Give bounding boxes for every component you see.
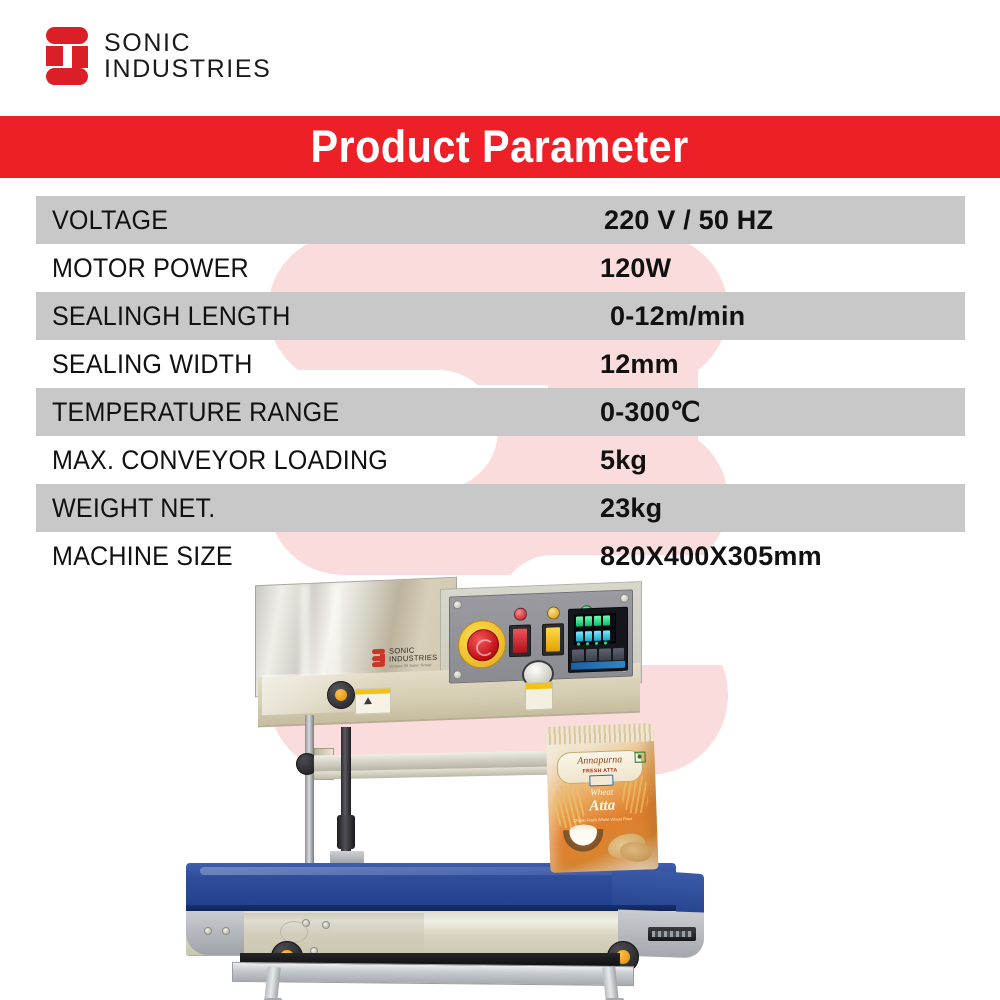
conveyor-frame-left-end [186, 911, 244, 955]
vegetarian-mark-icon [634, 751, 645, 762]
warning-sticker-right [525, 681, 553, 710]
spec-value: 0-300℃ [600, 397, 701, 428]
spec-value: 120W [600, 253, 671, 284]
page-title: Product Parameter [311, 121, 689, 173]
packet-brand-name: Annapurna [558, 754, 642, 768]
temperature-controller[interactable] [568, 607, 628, 673]
machine-leg-left [264, 966, 280, 1000]
frame-shadow [244, 913, 424, 953]
table-row: VOLTAGE 220 V / 50 HZ [0, 196, 1000, 244]
spec-value: 5kg [600, 445, 647, 476]
spec-value: 23kg [600, 493, 662, 524]
page-header: SONIC INDUSTRIES [0, 0, 1000, 116]
spec-label: VOLTAGE [52, 205, 562, 236]
table-row: MOTOR POWER 120W [0, 244, 1000, 292]
packet-product-line-2: Atta [548, 796, 657, 817]
warning-sticker-left [355, 687, 391, 714]
controller-brand-strip [571, 661, 625, 670]
warning-triangle-icon [364, 697, 372, 704]
spec-value: 820X400X305mm [600, 541, 822, 572]
table-row: WEIGHT NET. 23kg [0, 484, 1000, 532]
brand-name: SONIC INDUSTRIES [104, 30, 271, 83]
pv-display [574, 613, 616, 630]
spec-label: SEALING WIDTH [52, 349, 562, 380]
head-adjustment-knob[interactable] [327, 681, 355, 709]
power-led-icon [514, 608, 527, 621]
panel-screw [620, 594, 629, 603]
steel-highlight [300, 585, 310, 685]
emergency-stop-cap [467, 629, 499, 662]
control-panel [449, 589, 633, 683]
frame-bolt [204, 927, 212, 935]
product-packet: Annapurna FRESH ATTA Wheat Atta Chakki F… [545, 723, 658, 873]
machine-photo: SONIC INDUSTRIES Venture Of Sonic Group [0, 575, 1000, 1000]
guide-rod-coupler [337, 815, 355, 849]
brand-logo: SONIC INDUSTRIES [46, 27, 271, 85]
machine-s-logo-icon [372, 649, 385, 667]
frame-bolt [222, 927, 230, 935]
sonic-s-logo-icon [46, 27, 88, 85]
section-banner: Product Parameter [0, 116, 1000, 178]
spec-value: 220 V / 50 HZ [604, 205, 773, 236]
panel-screw [453, 670, 462, 679]
spec-label: WEIGHT NET. [52, 493, 562, 524]
table-row: SEALINGH LENGTH 0-12m/min [0, 292, 1000, 340]
emergency-stop-button[interactable] [458, 619, 506, 669]
table-row: MACHINE SIZE 820X400X305mm [0, 532, 1000, 580]
brand-line-2: INDUSTRIES [104, 56, 271, 83]
steel-highlight [330, 585, 340, 685]
heater-led-icon [547, 606, 560, 619]
spec-label: SEALINGH LENGTH [52, 301, 562, 332]
spec-label: MOTOR POWER [52, 253, 562, 284]
certification-mark-icon [589, 775, 613, 787]
brand-line-1: SONIC [104, 30, 271, 57]
spec-label: TEMPERATURE RANGE [52, 397, 562, 428]
spec-label: MAX. CONVEYOR LOADING [52, 445, 562, 476]
table-row: SEALING WIDTH 12mm [0, 340, 1000, 388]
spec-label: MACHINE SIZE [52, 541, 562, 572]
frame-access-ring [280, 921, 308, 943]
spec-table: VOLTAGE 220 V / 50 HZ MOTOR POWER 120W S… [0, 196, 1000, 580]
base-support-rail [232, 962, 634, 986]
spec-value: 12mm [600, 349, 679, 380]
table-row: MAX. CONVEYOR LOADING 5kg [0, 436, 1000, 484]
machine-brand-logo: SONIC INDUSTRIES Venture Of Sonic Group [372, 646, 437, 669]
rotate-arrow-icon [476, 639, 494, 657]
bowl-graphic [563, 829, 604, 852]
panel-screw [453, 600, 462, 609]
frame-bolt [322, 921, 330, 929]
spec-value: 0-12m/min [610, 301, 745, 332]
status-indicator-dots [577, 641, 607, 645]
table-row: TEMPERATURE RANGE 0-300℃ [0, 388, 1000, 436]
drive-unit [648, 927, 696, 941]
product-parameter-infographic: SONIC INDUSTRIES Product Parameter VOLTA… [0, 0, 1000, 1000]
roti-graphic-second [619, 840, 653, 863]
controller-buttons[interactable] [572, 648, 624, 662]
packet-top-seal [545, 723, 654, 745]
